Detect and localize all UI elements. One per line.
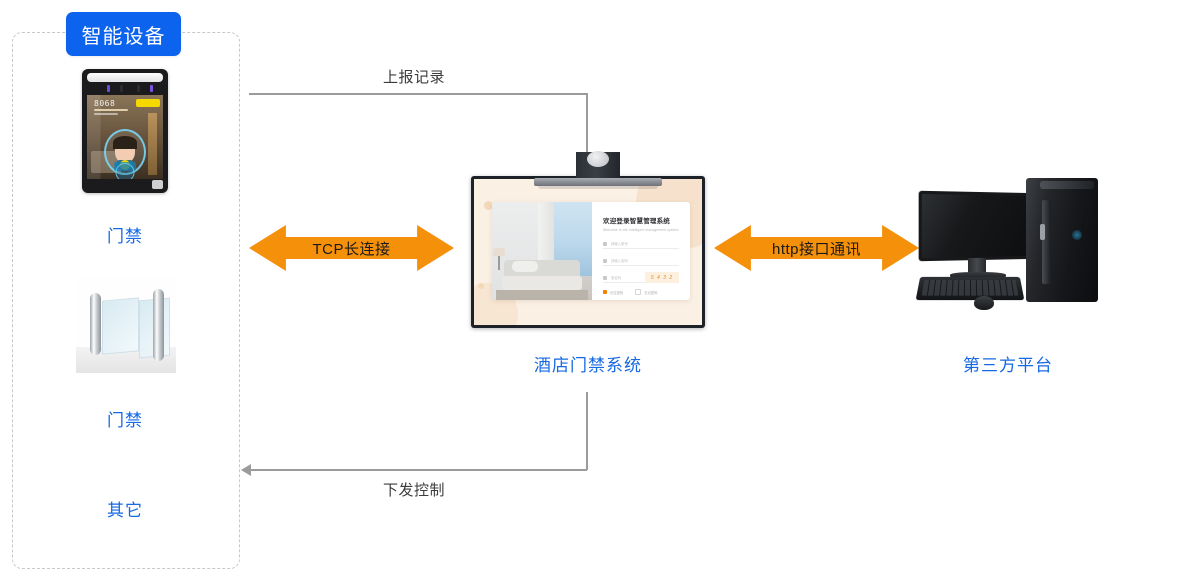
forgot-password-link[interactable]: 忘记密码 — [635, 289, 657, 295]
diagram-canvas: 智能设备 8068 门禁 — [0, 0, 1196, 580]
monitor-stand-neck — [576, 152, 620, 178]
hotel-room-photo — [492, 202, 592, 300]
remember-password-label: 记住密码 — [610, 290, 623, 295]
pc-tower-case — [1026, 178, 1098, 302]
smart-devices-badge: 智能设备 — [66, 12, 181, 56]
pc-monitor — [919, 191, 1034, 261]
http-interface-arrow: http接口通讯 — [714, 225, 919, 271]
lock-icon — [603, 259, 607, 263]
device-label-terminal: 门禁 — [12, 222, 238, 247]
terminal-sensor-row — [87, 85, 163, 92]
terminal-screen: 8068 — [87, 95, 163, 179]
control-flow-label: 下发控制 — [383, 479, 445, 500]
password-field-placeholder: 请输入密码 — [611, 258, 628, 263]
smart-devices-badge-label: 智能设备 — [82, 20, 166, 49]
checkbox-empty-icon — [635, 289, 641, 295]
terminal-camera-right — [137, 85, 140, 92]
terminal-ir-led-right — [150, 85, 153, 92]
mouse-icon — [974, 296, 994, 310]
keyboard-keys — [922, 280, 1019, 296]
terminal-bottom-bar — [87, 179, 163, 189]
gate-post-left — [90, 293, 101, 355]
photo-bed-sheet — [502, 276, 582, 290]
account-field-placeholder: 请输入账号 — [611, 241, 628, 246]
http-arrow-label: http接口通讯 — [714, 225, 919, 271]
terminal-subtitle-lines — [94, 109, 128, 117]
photo-floor-lamp — [498, 254, 500, 270]
user-icon — [603, 242, 607, 246]
login-card: 欢迎登录智慧管理系统 Welcome to the intelligent ma… — [492, 202, 690, 300]
terminal-mode-badge — [136, 99, 160, 107]
face-recognition-terminal-icon: 8068 — [82, 69, 168, 193]
checkbox-checked-icon — [603, 290, 607, 294]
password-field[interactable]: 请输入密码 — [603, 256, 679, 266]
photo-rug — [496, 290, 588, 300]
report-flow-label: 上报记录 — [383, 66, 445, 87]
captcha-image[interactable]: 5 4 3 2 — [645, 272, 679, 283]
tcp-arrow-label: TCP长连接 — [249, 225, 454, 271]
control-flow-horizontal-line — [250, 469, 587, 471]
terminal-light-bar — [87, 73, 163, 82]
monitor-screen: 欢迎登录智慧管理系统 Welcome to the intelligent ma… — [474, 179, 702, 325]
login-options-row: 记住密码 忘记密码 — [603, 289, 679, 295]
photo-pillow — [512, 261, 538, 272]
captcha-field[interactable]: 验证码 5 4 3 2 — [603, 273, 679, 283]
monitor-bezel: 欢迎登录智慧管理系统 Welcome to the intelligent ma… — [471, 176, 705, 328]
speed-gate-turnstile-icon — [76, 277, 176, 373]
terminal-room-number: 8068 — [94, 99, 115, 108]
pc-power-led — [1072, 230, 1082, 240]
forgot-password-label: 忘记密码 — [644, 290, 657, 295]
terminal-card-reader-icon — [152, 180, 163, 189]
control-flow-vertical-line — [586, 392, 588, 470]
device-label-other: 其它 — [12, 496, 238, 521]
keyboard-icon — [916, 277, 1025, 300]
login-form-subtitle: Welcome to the intelligent management sy… — [603, 228, 679, 232]
login-form: 欢迎登录智慧管理系统 Welcome to the intelligent ma… — [592, 202, 690, 300]
control-flow-arrowhead-icon — [241, 464, 251, 476]
device-label-gate: 门禁 — [12, 406, 238, 431]
terminal-fingerprint-icon — [116, 163, 135, 179]
login-form-title: 欢迎登录智慧管理系统 — [603, 215, 679, 225]
captcha-field-placeholder: 验证码 — [611, 275, 621, 280]
pc-monitor-screen — [922, 194, 1031, 258]
pc-tower-top-panel — [1040, 181, 1094, 189]
desktop-computer-icon — [918, 178, 1098, 318]
tcp-connection-arrow: TCP长连接 — [249, 225, 454, 271]
gate-glass-panel-left — [102, 297, 139, 354]
terminal-camera-left — [120, 85, 123, 92]
monitor-stand-base — [534, 178, 662, 186]
third-party-platform-label: 第三方平台 — [918, 351, 1098, 376]
terminal-ir-led-left — [107, 85, 110, 92]
account-field[interactable]: 请输入账号 — [603, 239, 679, 249]
remember-password-checkbox[interactable]: 记住密码 — [603, 290, 623, 295]
screen-decor-dot-2 — [478, 283, 484, 289]
gate-post-right — [153, 289, 164, 361]
hotel-system-monitor-icon: 欢迎登录智慧管理系统 Welcome to the intelligent ma… — [471, 176, 705, 328]
center-system-label: 酒店门禁系统 — [471, 351, 705, 376]
report-flow-horizontal-line — [249, 93, 588, 95]
shield-icon — [603, 276, 607, 280]
